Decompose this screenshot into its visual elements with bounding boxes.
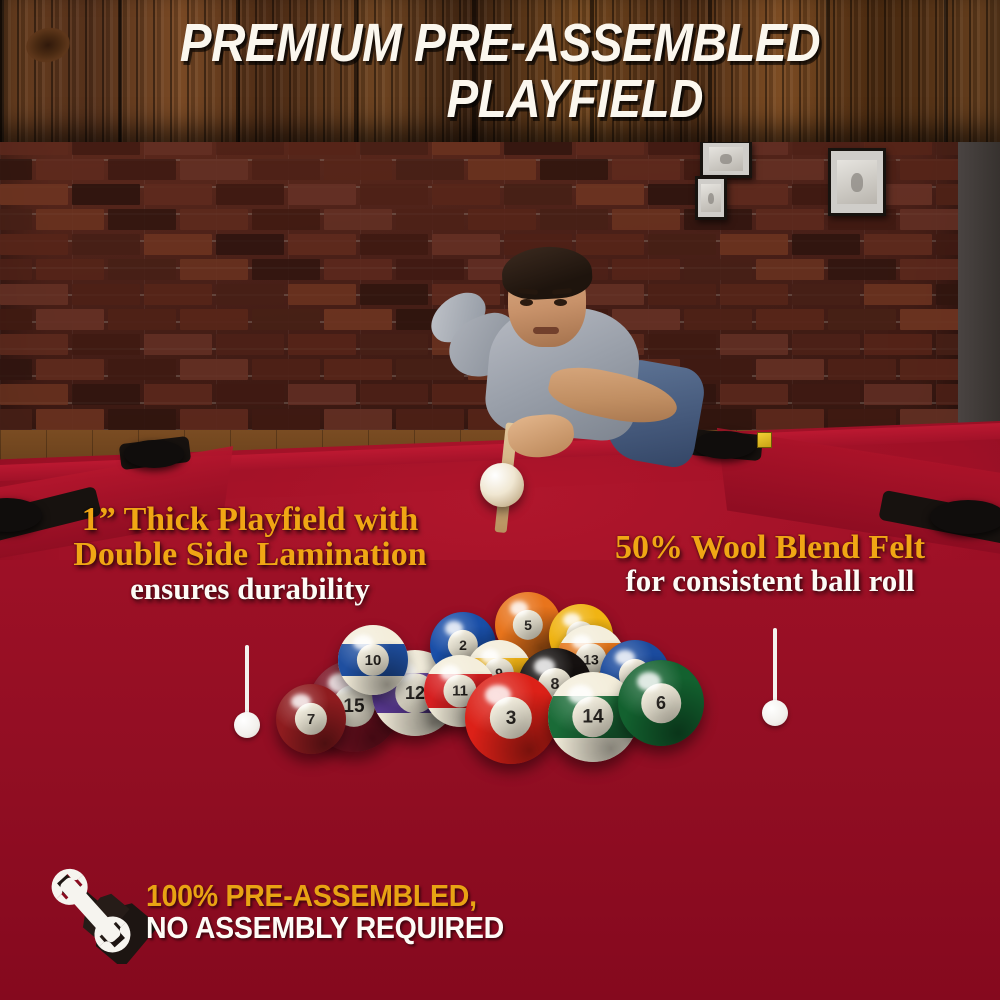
pre-assembled-badge-text: 100% PRE-ASSEMBLED, NO ASSEMBLY REQUIRED [146, 880, 504, 944]
wall-picture-figure [708, 193, 714, 204]
brick [0, 334, 68, 355]
player-hair [501, 245, 594, 302]
brick [36, 409, 104, 430]
ball-highlight [445, 621, 463, 636]
brick [72, 384, 140, 405]
brick [216, 284, 284, 305]
header-title-line-1: PREMIUM PRE-ASSEMBLED [60, 16, 940, 70]
brick [540, 159, 608, 180]
billiard-ball: 7 [276, 684, 346, 754]
brick [288, 384, 356, 405]
wall-picture-image [837, 160, 877, 205]
callout-1-white-line: ensures durability [20, 573, 480, 605]
brick [468, 209, 536, 230]
callout-2-pointer-dot [762, 700, 788, 726]
corner-pocket-right [930, 500, 1000, 534]
ball-shading [465, 672, 557, 764]
brick [0, 309, 32, 330]
brick [432, 184, 500, 205]
ball-highlight [353, 635, 373, 650]
ball-highlight [291, 694, 311, 709]
callout-playfield-thickness: 1” Thick Playfield with Double Side Lami… [20, 502, 480, 605]
brick [252, 409, 320, 430]
callout-wool-blend-felt: 50% Wool Blend Felt for consistent ball … [540, 530, 1000, 598]
brick [324, 159, 392, 180]
callout-2-gold-line-1: 50% Wool Blend Felt [540, 530, 1000, 565]
player-eye-left [520, 299, 533, 306]
badge-line-1: 100% PRE-ASSEMBLED, [146, 880, 504, 912]
brick [144, 334, 212, 355]
brick [720, 234, 788, 255]
brick [108, 309, 176, 330]
brick [864, 384, 932, 405]
brick [828, 359, 896, 380]
brick [72, 234, 140, 255]
brick [180, 259, 248, 280]
brick [756, 359, 824, 380]
brick [756, 409, 824, 430]
brick [288, 234, 356, 255]
brick [144, 184, 212, 205]
brick [720, 284, 788, 305]
brick [108, 359, 176, 380]
billiard-ball: 3 [465, 672, 557, 764]
brick [792, 384, 860, 405]
brick [576, 184, 644, 205]
brick [324, 409, 392, 430]
ball-highlight [534, 658, 555, 674]
brick [792, 234, 860, 255]
brick [72, 334, 140, 355]
wall-picture-frame [828, 148, 886, 216]
side-pocket-left [124, 440, 184, 468]
brick [828, 259, 896, 280]
wrench-hammer-icon [28, 852, 160, 964]
brick [720, 384, 788, 405]
brick [504, 184, 572, 205]
brick [144, 234, 212, 255]
brick [324, 209, 392, 230]
brick [720, 184, 788, 205]
chalk-cube [757, 432, 772, 448]
brick [288, 334, 356, 355]
ball-highlight [568, 685, 593, 705]
callout-1-gold-line-2: Double Side Lamination [20, 537, 480, 572]
brick [108, 159, 176, 180]
brick [72, 184, 140, 205]
brick-row [0, 182, 960, 207]
brick-row [0, 157, 960, 182]
header-title-line-2: PLAYFIELD [60, 72, 940, 126]
brick [396, 159, 464, 180]
ball-shading [338, 625, 408, 695]
wall-picture-image [709, 147, 744, 170]
brick [0, 359, 32, 380]
wall-picture-figure [720, 154, 731, 164]
ball-highlight [485, 685, 511, 705]
callout-1-pointer-dot [234, 712, 260, 738]
brick [0, 284, 68, 305]
brick-row [0, 207, 960, 232]
ball-highlight [563, 613, 581, 627]
brick [360, 284, 428, 305]
brick [216, 384, 284, 405]
brick [324, 259, 392, 280]
brick [0, 384, 68, 405]
wall-picture-image [701, 184, 721, 211]
pre-assembled-badge: 100% PRE-ASSEMBLED, NO ASSEMBLY REQUIRED [28, 852, 498, 964]
brick [0, 259, 32, 280]
ball-highlight [481, 649, 499, 664]
header-banner: PREMIUM PRE-ASSEMBLED PLAYFIELD [0, 0, 1000, 142]
brick [180, 359, 248, 380]
callout-1-gold-line-1: 1” Thick Playfield with [20, 502, 480, 537]
billiard-ball: 6 [618, 660, 704, 746]
callout-2-pointer-stem [773, 628, 777, 706]
brick [612, 159, 680, 180]
ball-highlight [510, 601, 528, 616]
brick [864, 284, 932, 305]
brick [0, 159, 32, 180]
brick [144, 284, 212, 305]
brick [180, 309, 248, 330]
brick [252, 209, 320, 230]
callout-2-white-line: for consistent ball roll [540, 565, 1000, 597]
ball-shading [618, 660, 704, 746]
wall-picture-frame [695, 176, 727, 220]
brick [108, 409, 176, 430]
brick [180, 409, 248, 430]
brick [756, 209, 824, 230]
player-eye-right [554, 299, 567, 306]
brick [756, 259, 824, 280]
brick [36, 209, 104, 230]
brick [324, 359, 392, 380]
brick [108, 209, 176, 230]
brick [36, 159, 104, 180]
brick [360, 234, 428, 255]
brick [252, 309, 320, 330]
brick [360, 184, 428, 205]
brick [108, 259, 176, 280]
ball-shading [276, 684, 346, 754]
brick [324, 309, 392, 330]
ball-highlight [637, 672, 661, 691]
brick [180, 159, 248, 180]
brick [72, 284, 140, 305]
brick [864, 334, 932, 355]
brick [864, 234, 932, 255]
brick [288, 184, 356, 205]
brick [540, 209, 608, 230]
brick [756, 309, 824, 330]
brick [288, 284, 356, 305]
ball-highlight [440, 665, 460, 681]
brick [360, 334, 428, 355]
brick [828, 309, 896, 330]
brick [612, 209, 680, 230]
pool-player [430, 245, 710, 475]
brick [216, 184, 284, 205]
brick [36, 359, 104, 380]
brick [36, 309, 104, 330]
ball-highlight [615, 650, 635, 665]
brick [0, 409, 32, 430]
brick [252, 259, 320, 280]
brick [252, 359, 320, 380]
brick [0, 234, 68, 255]
product-marketing-image: 151210259111138431467 1” Thick Playfield… [0, 0, 1000, 1000]
brick [252, 159, 320, 180]
brick [216, 334, 284, 355]
brick [792, 284, 860, 305]
brick [756, 159, 824, 180]
brick [792, 334, 860, 355]
billiard-ball: 10 [338, 625, 408, 695]
brick [216, 234, 284, 255]
wall-picture-figure [851, 173, 864, 192]
brick [0, 184, 68, 205]
brick [396, 209, 464, 230]
brick [720, 334, 788, 355]
brick [360, 384, 428, 405]
brick [0, 209, 32, 230]
badge-line-2: NO ASSEMBLY REQUIRED [146, 912, 504, 944]
brick [36, 259, 104, 280]
cue-ball [480, 463, 524, 507]
brick [468, 159, 536, 180]
player-mouth [533, 327, 559, 334]
brick [144, 384, 212, 405]
wall-picture-frame [700, 140, 752, 178]
brick [180, 209, 248, 230]
